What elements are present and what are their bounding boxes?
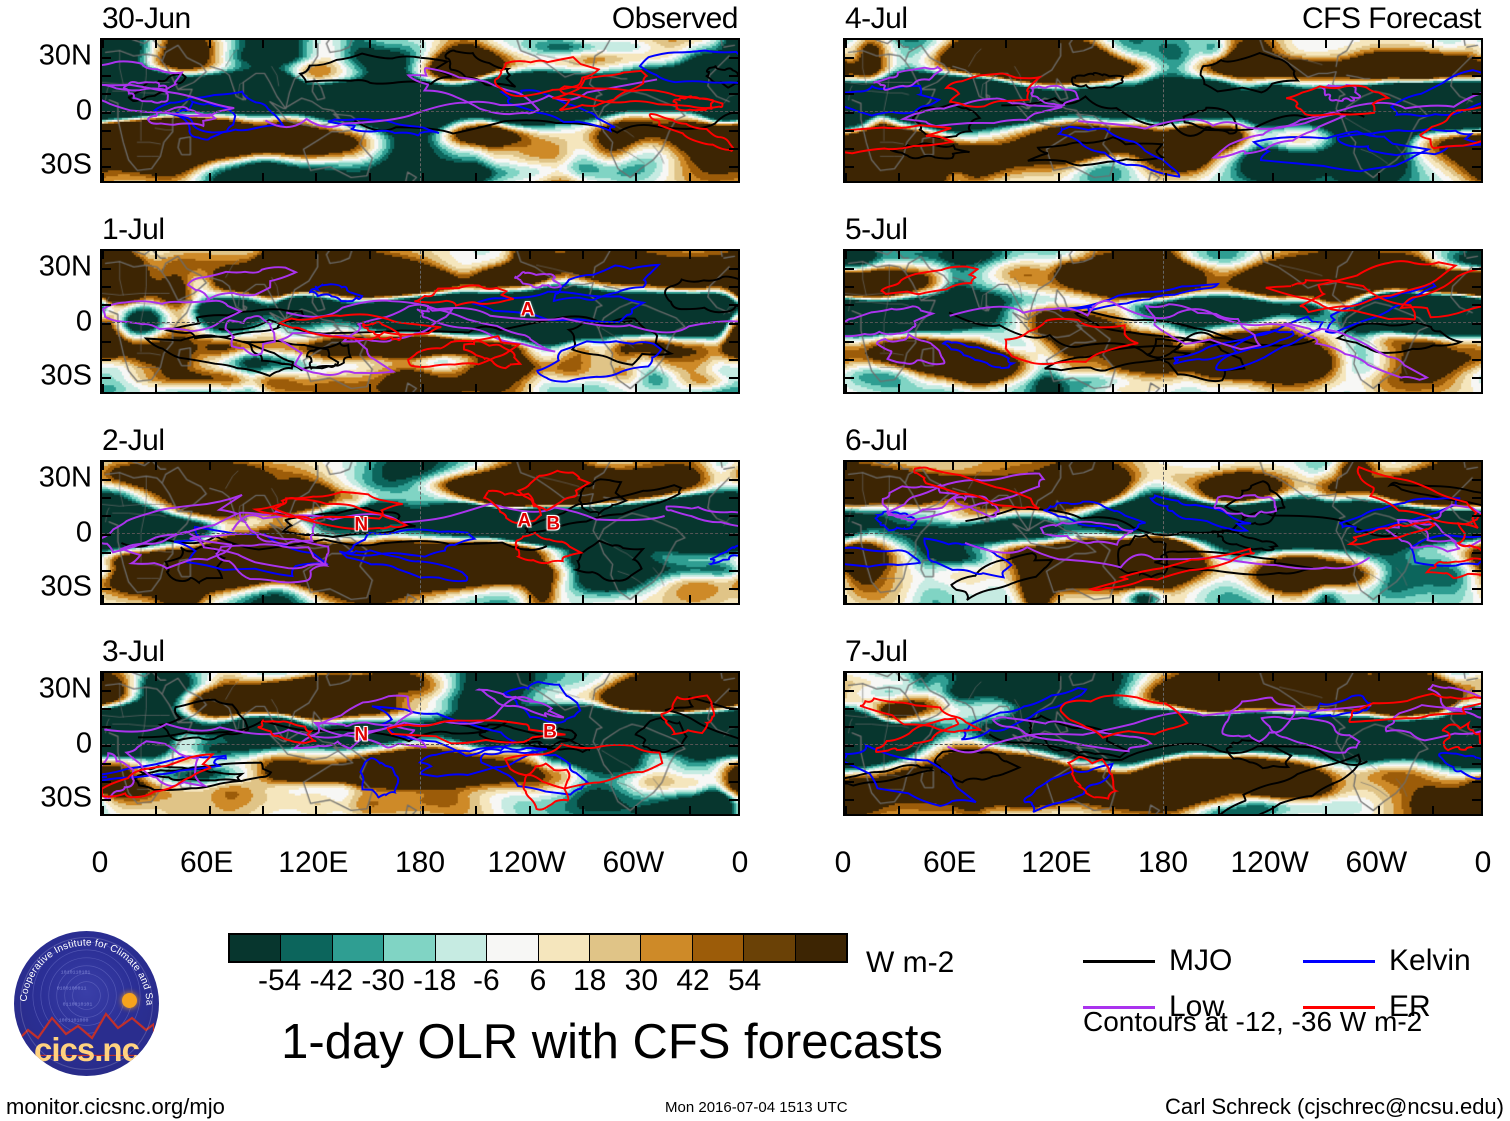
- x-tick-mark: [1218, 384, 1220, 392]
- y-tick-mark: [1472, 377, 1481, 379]
- y-tick-mark: [729, 479, 738, 481]
- x-tick-mark: [209, 462, 211, 470]
- x-tick-mark: [155, 251, 157, 259]
- y-tick-mark: [1472, 323, 1481, 325]
- y-tick-mark: [729, 268, 738, 270]
- contour-er: [484, 491, 541, 523]
- x-tick-mark: [422, 595, 424, 603]
- x-tick-mark: [102, 40, 104, 48]
- cics-nc-logo: 1010110101 0100100011 0110010101 1001101…: [14, 931, 159, 1076]
- y-axis-label: 30N: [39, 464, 92, 493]
- contour-er: [881, 267, 977, 295]
- colorbar-swatch: [744, 935, 795, 961]
- dateline-marker: [1163, 251, 1164, 392]
- colorbar-tick-label: -42: [310, 966, 353, 996]
- x-tick-mark: [898, 595, 900, 603]
- x-tick-mark: [1058, 806, 1060, 814]
- x-tick-mark: [1325, 673, 1327, 681]
- contour-level-note: Contours at -12, -36 W m-2: [1083, 1008, 1422, 1036]
- y-tick-mark: [729, 304, 738, 306]
- y-tick-mark: [1472, 781, 1481, 783]
- panel-date-label: 4-Jul: [845, 4, 908, 34]
- x-tick-mark: [845, 673, 847, 681]
- olr-anomaly-map: NB: [100, 671, 740, 816]
- contour-er: [1061, 695, 1188, 737]
- dateline-marker: [1163, 673, 1164, 814]
- storm-marker: B: [546, 514, 560, 533]
- contour-kelvin: [310, 284, 362, 301]
- x-tick-mark: [369, 384, 371, 392]
- y-tick-mark: [102, 479, 111, 481]
- y-axis-label: 0: [76, 518, 92, 547]
- x-tick-mark: [1165, 384, 1167, 392]
- y-tick-mark: [1472, 515, 1481, 517]
- map-panel-3-jul: 3-JulNB30N030S: [100, 671, 740, 816]
- x-tick-mark: [1272, 173, 1274, 181]
- y-tick-mark: [1472, 534, 1481, 536]
- x-tick-mark: [898, 384, 900, 392]
- x-tick-mark: [952, 462, 954, 470]
- x-tick-mark: [1005, 806, 1007, 814]
- footer-timestamp: Mon 2016-07-04 1513 UTC: [665, 1100, 848, 1115]
- x-tick-mark: [1218, 673, 1220, 681]
- x-tick-mark: [529, 462, 531, 470]
- x-tick-mark: [635, 595, 637, 603]
- y-tick-mark: [845, 479, 854, 481]
- x-tick-mark: [155, 462, 157, 470]
- x-tick-mark: [262, 251, 264, 259]
- y-tick-mark: [729, 57, 738, 59]
- x-tick-mark: [475, 384, 477, 392]
- y-tick-mark: [845, 304, 854, 306]
- x-tick-mark: [529, 384, 531, 392]
- dateline-marker: [1163, 40, 1164, 181]
- x-tick-mark: [1112, 806, 1114, 814]
- y-tick-mark: [102, 130, 111, 132]
- y-tick-mark: [729, 377, 738, 379]
- panel-date-label: 7-Jul: [845, 637, 908, 667]
- y-tick-mark: [102, 799, 111, 801]
- map-panel-30-jun: 30-JunObserved30N030S: [100, 38, 740, 183]
- y-tick-mark: [729, 341, 738, 343]
- x-tick-mark: [689, 673, 691, 681]
- x-tick-mark: [1378, 173, 1380, 181]
- x-tick-mark: [1165, 173, 1167, 181]
- y-tick-mark: [729, 763, 738, 765]
- x-tick-mark: [1005, 384, 1007, 392]
- x-tick-mark: [1272, 806, 1274, 814]
- y-tick-mark: [1472, 726, 1481, 728]
- x-tick-mark: [209, 595, 211, 603]
- x-tick-mark: [689, 806, 691, 814]
- y-tick-mark: [845, 166, 854, 168]
- y-tick-mark: [845, 726, 854, 728]
- x-tick-mark: [1112, 384, 1114, 392]
- contour-er: [1266, 280, 1415, 319]
- y-tick-mark: [102, 112, 111, 114]
- colorbar-swatch: [384, 935, 435, 961]
- contour-low: [188, 267, 296, 300]
- x-tick-mark: [102, 806, 104, 814]
- y-axis-label: 0: [76, 729, 92, 758]
- olr-anomaly-map: [843, 460, 1483, 605]
- storm-marker: A: [521, 301, 535, 320]
- x-tick-mark: [1325, 251, 1327, 259]
- contour-kelvin: [710, 544, 738, 565]
- contour-low: [280, 333, 393, 375]
- legend-label-kelvin: Kelvin: [1389, 946, 1471, 976]
- y-tick-mark: [729, 552, 738, 554]
- x-tick-mark: [1005, 462, 1007, 470]
- x-axis-label: 180: [395, 848, 445, 878]
- y-tick-mark: [845, 588, 854, 590]
- x-tick-mark: [952, 673, 954, 681]
- x-axis-label: 120W: [487, 848, 565, 878]
- y-tick-mark: [1472, 763, 1481, 765]
- x-tick-mark: [1325, 806, 1327, 814]
- y-axis-label: 30S: [40, 150, 92, 179]
- y-tick-mark: [845, 359, 854, 361]
- y-tick-mark: [1472, 497, 1481, 499]
- x-tick-mark: [1378, 384, 1380, 392]
- y-tick-mark: [1472, 304, 1481, 306]
- y-axis-label: 30N: [39, 675, 92, 704]
- y-tick-mark: [102, 763, 111, 765]
- y-tick-mark: [845, 745, 854, 747]
- x-tick-mark: [529, 806, 531, 814]
- x-axis-label: 0: [835, 848, 852, 878]
- x-tick-mark: [898, 40, 900, 48]
- y-tick-mark: [1472, 166, 1481, 168]
- x-axis-label: 60W: [1345, 848, 1407, 878]
- x-tick-mark: [369, 173, 371, 181]
- contour-mjo: [1072, 73, 1123, 88]
- x-tick-mark: [635, 251, 637, 259]
- page-title: 1-day OLR with CFS forecasts: [247, 1016, 977, 1068]
- contour-mjo: [1201, 53, 1298, 92]
- colorbar-swatch: [641, 935, 692, 961]
- x-tick-mark: [845, 384, 847, 392]
- x-tick-mark: [582, 251, 584, 259]
- panel-grid: 30-JunObserved30N030S4-JulCFS Forecast1-…: [0, 0, 1510, 900]
- y-tick-mark: [845, 341, 854, 343]
- y-tick-mark: [102, 268, 111, 270]
- x-tick-mark: [635, 806, 637, 814]
- y-tick-mark: [729, 726, 738, 728]
- map-panel-1-jul: 1-JulA30N030S: [100, 249, 740, 394]
- x-tick-mark: [369, 595, 371, 603]
- y-tick-mark: [1472, 690, 1481, 692]
- x-tick-mark: [262, 595, 264, 603]
- y-tick-mark: [729, 166, 738, 168]
- y-tick-mark: [729, 93, 738, 95]
- x-tick-mark: [898, 251, 900, 259]
- x-tick-mark: [845, 806, 847, 814]
- x-tick-mark: [952, 173, 954, 181]
- x-tick-mark: [845, 462, 847, 470]
- x-axis-label: 60W: [602, 848, 664, 878]
- x-tick-mark: [898, 462, 900, 470]
- y-tick-mark: [102, 690, 111, 692]
- x-tick-mark: [315, 673, 317, 681]
- olr-anomaly-map: A: [100, 249, 740, 394]
- x-tick-mark: [315, 173, 317, 181]
- x-tick-mark: [209, 806, 211, 814]
- dateline-marker: [420, 40, 421, 181]
- y-tick-mark: [102, 341, 111, 343]
- x-tick-mark: [1272, 595, 1274, 603]
- contour-kelvin: [943, 341, 1013, 368]
- y-tick-mark: [729, 534, 738, 536]
- contour-low: [874, 67, 942, 90]
- x-tick-mark: [582, 806, 584, 814]
- x-tick-mark: [1325, 595, 1327, 603]
- colorbar-tick-label: 54: [728, 966, 761, 996]
- contour-mjo: [665, 277, 738, 313]
- x-tick-mark: [1165, 40, 1167, 48]
- y-tick-mark: [1472, 286, 1481, 288]
- x-tick-mark: [369, 40, 371, 48]
- y-tick-mark: [102, 359, 111, 361]
- x-tick-mark: [1058, 595, 1060, 603]
- contour-mjo: [1045, 346, 1189, 371]
- x-tick-mark: [422, 806, 424, 814]
- footer-site[interactable]: monitor.cicsnc.org/mjo: [6, 1096, 225, 1118]
- x-tick-mark: [845, 595, 847, 603]
- x-tick-mark: [209, 40, 211, 48]
- x-tick-mark: [952, 40, 954, 48]
- mjo-line-swatch: [1083, 960, 1155, 963]
- x-tick-mark: [475, 173, 477, 181]
- x-axis-label: 0: [92, 848, 109, 878]
- x-tick-mark: [422, 40, 424, 48]
- y-axis-label: 0: [76, 96, 92, 125]
- x-tick-mark: [898, 806, 900, 814]
- x-tick-mark: [1112, 673, 1114, 681]
- x-tick-mark: [1432, 251, 1434, 259]
- x-tick-mark: [1432, 673, 1434, 681]
- y-tick-mark: [729, 112, 738, 114]
- colorbar-tick-label: -54: [258, 966, 301, 996]
- x-tick-mark: [155, 806, 157, 814]
- y-tick-mark: [102, 57, 111, 59]
- y-tick-mark: [102, 148, 111, 150]
- y-tick-mark: [1472, 588, 1481, 590]
- x-tick-mark: [1218, 173, 1220, 181]
- x-tick-mark: [1432, 462, 1434, 470]
- x-tick-mark: [952, 251, 954, 259]
- y-tick-mark: [102, 534, 111, 536]
- x-tick-mark: [422, 173, 424, 181]
- colorbar-swatch: [230, 935, 281, 961]
- x-tick-mark: [689, 595, 691, 603]
- x-tick-mark: [1005, 673, 1007, 681]
- y-tick-mark: [845, 75, 854, 77]
- contour-mjo: [1212, 531, 1277, 551]
- x-tick-mark: [209, 673, 211, 681]
- contour-mjo: [577, 541, 643, 581]
- x-tick-mark: [369, 673, 371, 681]
- contour-low: [479, 689, 564, 717]
- y-tick-mark: [845, 112, 854, 114]
- y-tick-mark: [845, 93, 854, 95]
- y-tick-mark: [845, 377, 854, 379]
- y-tick-mark: [1472, 93, 1481, 95]
- dateline-marker: [420, 462, 421, 603]
- x-tick-mark: [262, 40, 264, 48]
- x-tick-mark: [1165, 806, 1167, 814]
- x-tick-mark: [1272, 40, 1274, 48]
- y-tick-mark: [102, 75, 111, 77]
- x-axis-labels-observed: 060E120E180120W60W0: [100, 848, 740, 882]
- x-tick-mark: [1218, 595, 1220, 603]
- dateline-marker: [420, 251, 421, 392]
- x-tick-mark: [102, 173, 104, 181]
- contour-low-envelope: [950, 301, 1296, 328]
- y-tick-mark: [102, 726, 111, 728]
- x-tick-mark: [315, 251, 317, 259]
- y-tick-mark: [845, 763, 854, 765]
- olr-anomaly-map: [843, 38, 1483, 183]
- y-tick-mark: [102, 588, 111, 590]
- x-tick-mark: [262, 462, 264, 470]
- colorbar-unit-label: W m-2: [866, 948, 954, 978]
- x-tick-mark: [1432, 40, 1434, 48]
- contour-er: [414, 285, 513, 305]
- x-tick-mark: [952, 806, 954, 814]
- x-axis-label: 120E: [278, 848, 348, 878]
- y-tick-mark: [1472, 112, 1481, 114]
- contour-low-envelope: [265, 79, 657, 127]
- column-header-label: CFS Forecast: [1302, 4, 1481, 34]
- x-tick-mark: [1378, 251, 1380, 259]
- x-axis-label: 0: [1475, 848, 1492, 878]
- y-tick-mark: [845, 570, 854, 572]
- x-tick-mark: [102, 595, 104, 603]
- contour-mjo: [452, 723, 589, 752]
- contour-low: [515, 272, 561, 288]
- x-tick-mark: [1272, 462, 1274, 470]
- x-tick-mark: [102, 673, 104, 681]
- x-tick-mark: [1058, 173, 1060, 181]
- y-tick-mark: [1472, 341, 1481, 343]
- x-tick-mark: [262, 173, 264, 181]
- y-tick-mark: [1472, 359, 1481, 361]
- y-tick-mark: [845, 286, 854, 288]
- colorbar-tick-label: 18: [573, 966, 606, 996]
- y-tick-mark: [729, 286, 738, 288]
- x-tick-mark: [1058, 384, 1060, 392]
- legend-item-kelvin: Kelvin: [1303, 946, 1471, 976]
- x-tick-mark: [315, 384, 317, 392]
- colorbar-swatch: [487, 935, 538, 961]
- map-panel-6-jul: 6-Jul: [843, 460, 1483, 605]
- dateline-marker: [420, 673, 421, 814]
- y-tick-mark: [1472, 552, 1481, 554]
- x-axis-label: 60E: [923, 848, 976, 878]
- x-tick-mark: [315, 40, 317, 48]
- x-tick-mark: [1112, 173, 1114, 181]
- y-tick-mark: [102, 166, 111, 168]
- x-tick-mark: [529, 673, 531, 681]
- x-tick-mark: [422, 462, 424, 470]
- contour-low: [954, 496, 999, 516]
- x-tick-mark: [1058, 462, 1060, 470]
- y-tick-mark: [729, 497, 738, 499]
- y-tick-mark: [729, 323, 738, 325]
- x-tick-mark: [1325, 173, 1327, 181]
- y-tick-mark: [845, 690, 854, 692]
- panel-date-label: 30-Jun: [102, 4, 191, 34]
- x-tick-mark: [475, 251, 477, 259]
- x-tick-mark: [422, 673, 424, 681]
- x-tick-mark: [582, 595, 584, 603]
- x-tick-mark: [1165, 251, 1167, 259]
- y-tick-mark: [102, 570, 111, 572]
- x-tick-mark: [315, 595, 317, 603]
- x-tick-mark: [1058, 40, 1060, 48]
- y-tick-mark: [845, 515, 854, 517]
- x-tick-mark: [315, 806, 317, 814]
- y-tick-mark: [1472, 799, 1481, 801]
- x-tick-mark: [1378, 673, 1380, 681]
- y-tick-mark: [845, 323, 854, 325]
- x-tick-mark: [689, 384, 691, 392]
- contour-mjo: [1221, 755, 1361, 814]
- y-tick-mark: [1472, 148, 1481, 150]
- contour-kelvin: [504, 682, 580, 723]
- y-tick-mark: [102, 552, 111, 554]
- map-panel-4-jul: 4-JulCFS Forecast: [843, 38, 1483, 183]
- panel-date-label: 2-Jul: [102, 426, 165, 456]
- column-header-label: Observed: [612, 4, 738, 34]
- storm-marker: A: [518, 511, 532, 530]
- colorbar: [228, 933, 848, 963]
- x-tick-mark: [209, 251, 211, 259]
- x-tick-mark: [689, 40, 691, 48]
- x-tick-mark: [582, 173, 584, 181]
- y-tick-mark: [845, 781, 854, 783]
- contour-er: [876, 718, 958, 752]
- x-tick-mark: [1218, 40, 1220, 48]
- colorbar-tick-label: 42: [676, 966, 709, 996]
- x-tick-mark: [689, 251, 691, 259]
- x-tick-mark: [529, 595, 531, 603]
- y-tick-mark: [1472, 130, 1481, 132]
- olr-anomaly-map: [843, 249, 1483, 394]
- y-tick-mark: [729, 75, 738, 77]
- contour-kelvin: [481, 751, 588, 794]
- y-tick-mark: [102, 377, 111, 379]
- x-tick-mark: [315, 462, 317, 470]
- contour-kelvin: [845, 545, 920, 567]
- colorbar-tick-label: -18: [413, 966, 456, 996]
- legend-item-mjo: MJO: [1083, 946, 1232, 976]
- x-tick-mark: [102, 251, 104, 259]
- y-tick-mark: [845, 130, 854, 132]
- x-tick-mark: [1112, 40, 1114, 48]
- contour-er: [524, 764, 570, 810]
- y-tick-mark: [729, 130, 738, 132]
- x-tick-mark: [1378, 595, 1380, 603]
- x-tick-mark: [635, 673, 637, 681]
- x-tick-mark: [845, 251, 847, 259]
- x-tick-mark: [635, 173, 637, 181]
- contour-low: [877, 334, 944, 364]
- x-tick-mark: [475, 595, 477, 603]
- x-tick-mark: [635, 384, 637, 392]
- y-tick-mark: [729, 588, 738, 590]
